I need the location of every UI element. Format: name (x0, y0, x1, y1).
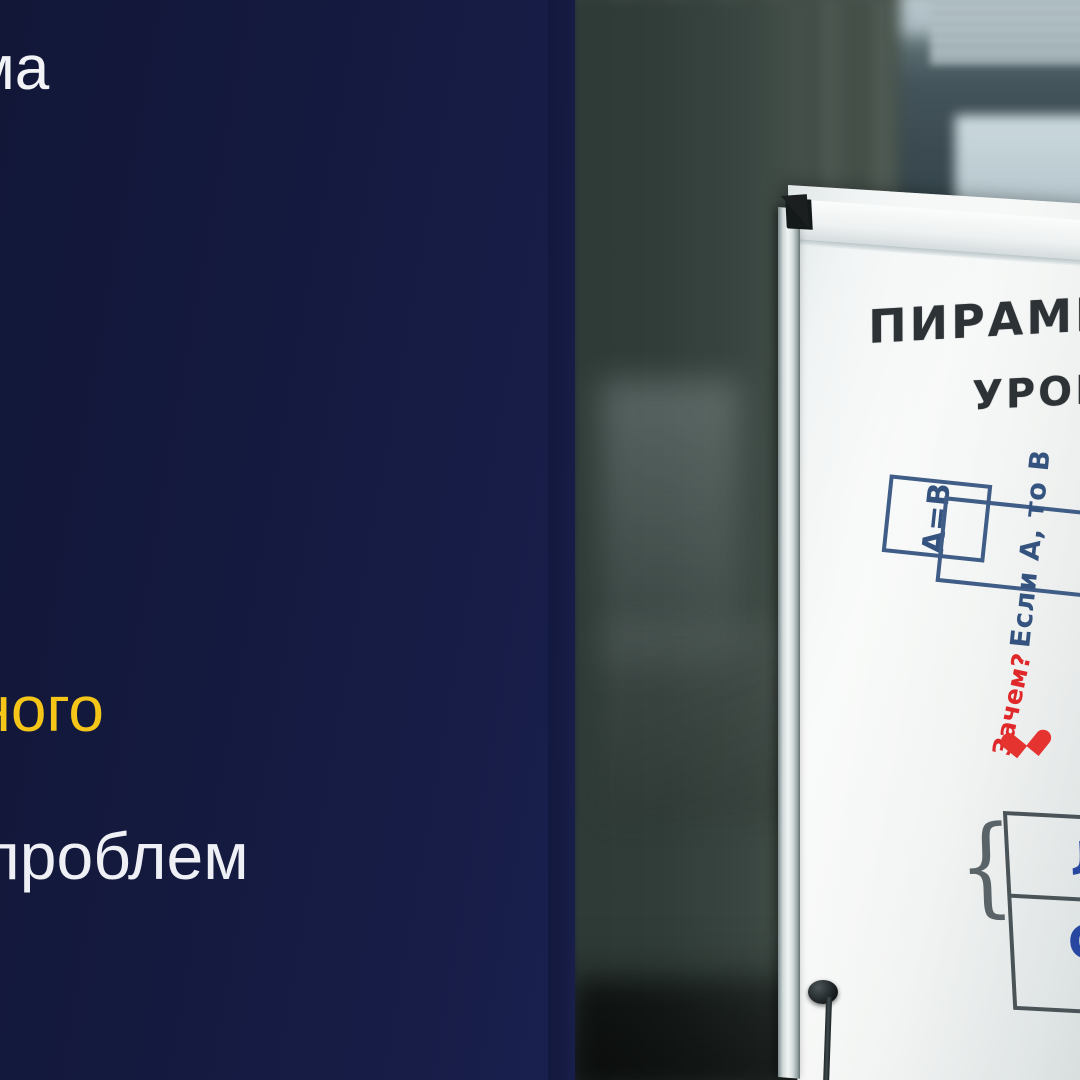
navy-text-panel (0, 0, 575, 1080)
headline-line-accent: одного (0, 672, 104, 746)
headline-line-top: кума (0, 33, 49, 104)
headline-line-bottom: проблем (0, 818, 249, 894)
easel-knob (808, 980, 838, 1004)
easel-rail (778, 207, 800, 1079)
flipchart-subtitle: УРОВ (972, 366, 1080, 419)
flipchart-easel: ПИРАМИ УРОВ А=В Если А, то В Зачем? { Л … (770, 185, 1080, 1080)
panel-edge-feather (548, 0, 580, 1080)
corner-clip-icon (781, 194, 809, 230)
heart-icon (1009, 720, 1042, 750)
flipchart-blue-letter-bottom: С (1067, 914, 1080, 970)
window-blinds (930, 0, 1080, 64)
flipchart-blue-letter-top: Л (1069, 830, 1080, 886)
slide-canvas: ПИРАМИ УРОВ А=В Если А, то В Зачем? { Л … (0, 0, 1080, 1080)
